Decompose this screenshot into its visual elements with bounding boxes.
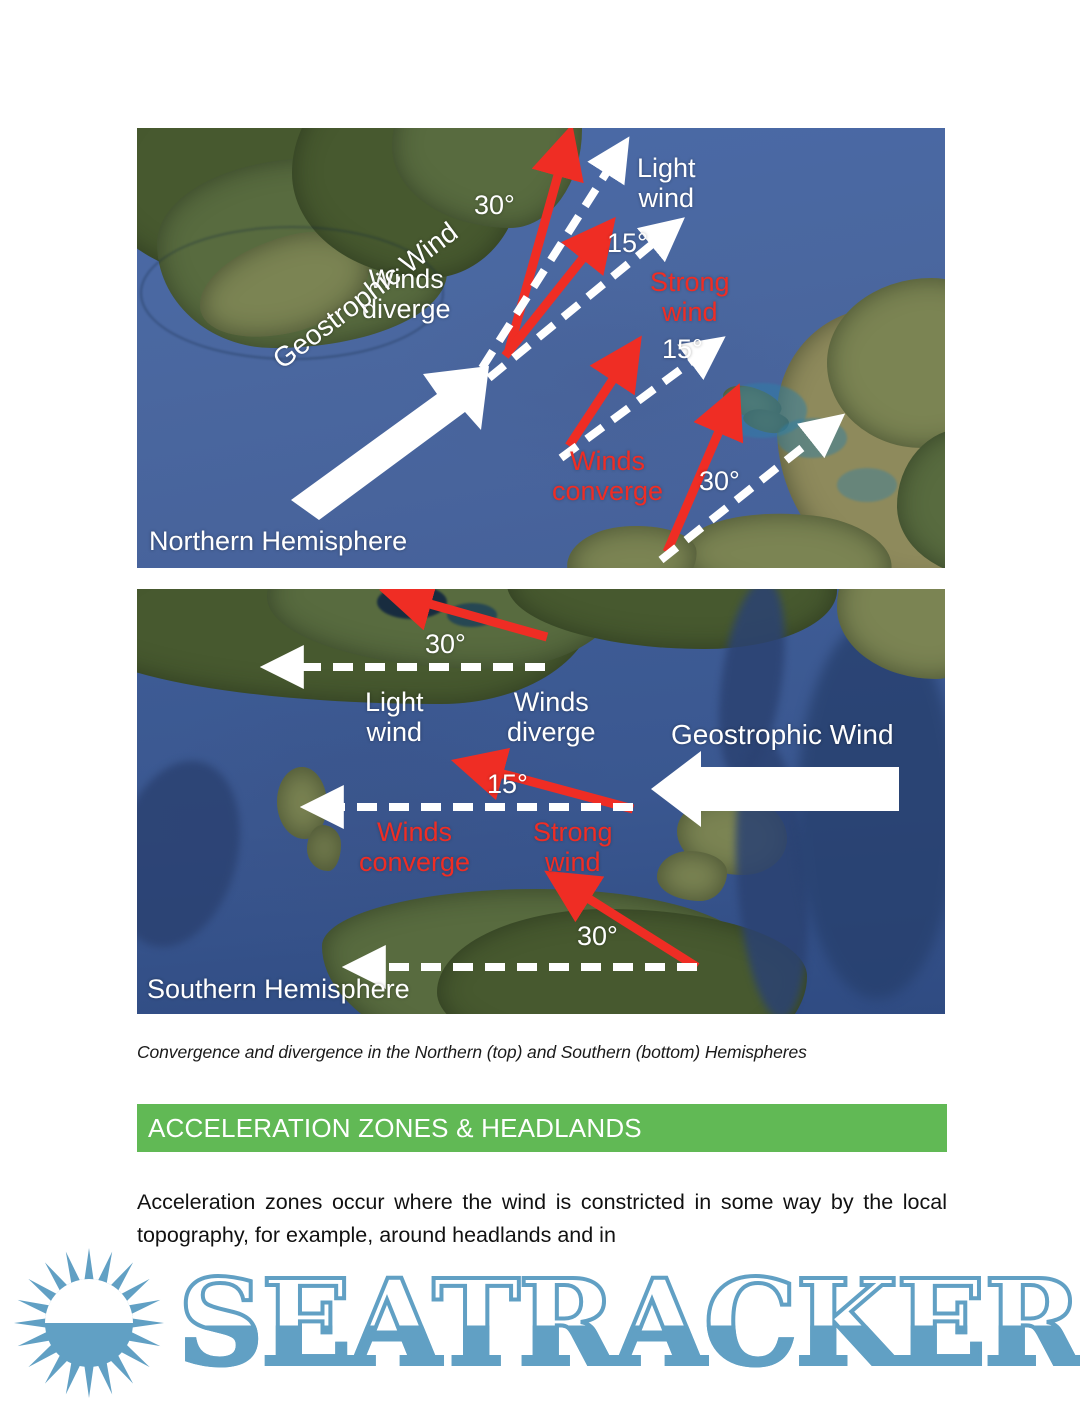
document-page: 30° Light wind Winds diverge 15° Strong … — [0, 0, 1080, 1397]
hemisphere-label-south: Southern Hemisphere — [147, 974, 410, 1004]
body-paragraph: Acceleration zones occur where the wind … — [137, 1186, 947, 1252]
angle-label-30-top-south: 30° — [425, 629, 466, 659]
strong-wind-label-south: Strong wind — [533, 817, 613, 877]
light-wind-label-south: Light wind — [365, 687, 424, 747]
angle-label-30-nw: 30° — [474, 190, 515, 220]
watermark: SEATRACKER.RU — [0, 1248, 1080, 1397]
winds-converge-label-south: Winds converge — [359, 817, 470, 877]
shallow-water — [837, 468, 897, 502]
section-heading-text: ACCELERATION ZONES & HEADLANDS — [137, 1113, 642, 1144]
angle-label-30-se: 30° — [699, 466, 740, 496]
angle-label-30-bottom-south: 30° — [577, 921, 618, 951]
northern-hemisphere-map: 30° Light wind Winds diverge 15° Strong … — [137, 128, 945, 568]
strong-wind-label-north: Strong wind — [650, 267, 730, 327]
geostrophic-wind-label-south: Geostrophic Wind — [671, 719, 894, 750]
section-heading-bar: ACCELERATION ZONES & HEADLANDS — [137, 1104, 947, 1152]
angle-label-15-lower: 15° — [662, 334, 703, 364]
body-text: Acceleration zones occur where the wind … — [137, 1186, 947, 1252]
bay — [447, 603, 497, 627]
winds-converge-label-north: Winds converge — [552, 446, 663, 506]
angle-label-15-south: 15° — [487, 769, 528, 799]
shallow-water — [777, 418, 847, 458]
watermark-text: SEATRACKER.RU — [178, 1264, 1080, 1382]
winds-diverge-label-south: Winds diverge — [507, 687, 596, 747]
figure-caption: Convergence and divergence in the Northe… — [137, 1042, 967, 1063]
figure-convergence-divergence: 30° Light wind Winds diverge 15° Strong … — [137, 128, 945, 1014]
island — [307, 825, 341, 871]
sun-icon — [14, 1248, 164, 1398]
light-wind-label-north: Light wind — [637, 153, 696, 213]
southern-hemisphere-map: 30° Light wind Winds diverge 15° Winds c… — [137, 589, 945, 1014]
angle-label-15-upper: 15° — [607, 228, 648, 258]
hemisphere-label-north: Northern Hemisphere — [149, 526, 407, 556]
